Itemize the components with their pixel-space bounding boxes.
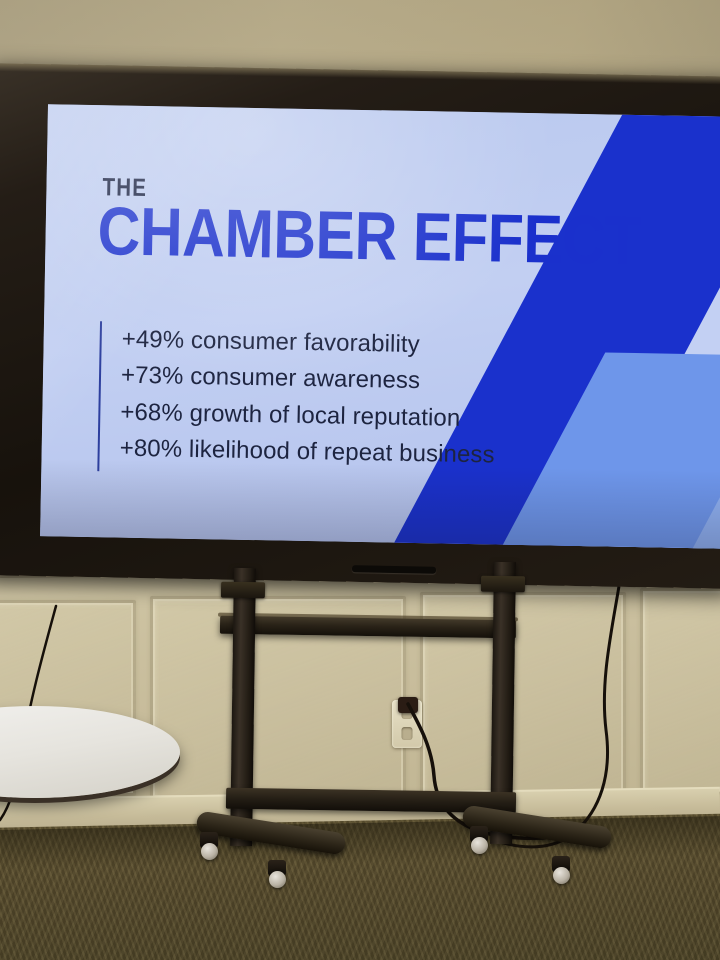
cart-foot-left <box>195 810 347 855</box>
tv-screen: THE CHAMBER EFFECT +49% consumer favorab… <box>40 104 720 548</box>
post-collar <box>221 582 265 599</box>
slide-content: THE CHAMBER EFFECT +49% consumer favorab… <box>40 104 720 548</box>
slide-bullet-list: +49% consumer favorability +73% consumer… <box>97 321 497 478</box>
slide-headline: CHAMBER EFFECT <box>97 197 641 275</box>
caster-wheel-icon <box>269 871 286 888</box>
presentation-room-photo: THE CHAMBER EFFECT +49% consumer favorab… <box>0 0 720 960</box>
caster-wheel-icon <box>553 867 570 884</box>
list-item: +80% likelihood of repeat business <box>119 431 495 474</box>
flat-panel-tv: THE CHAMBER EFFECT +49% consumer favorab… <box>0 63 720 589</box>
cart-shelf <box>220 616 516 639</box>
caster-wheel-icon <box>471 837 488 854</box>
caster-wheel-icon <box>201 843 218 860</box>
presentation-slide: THE CHAMBER EFFECT +49% consumer favorab… <box>40 104 720 548</box>
post-collar <box>481 576 525 593</box>
